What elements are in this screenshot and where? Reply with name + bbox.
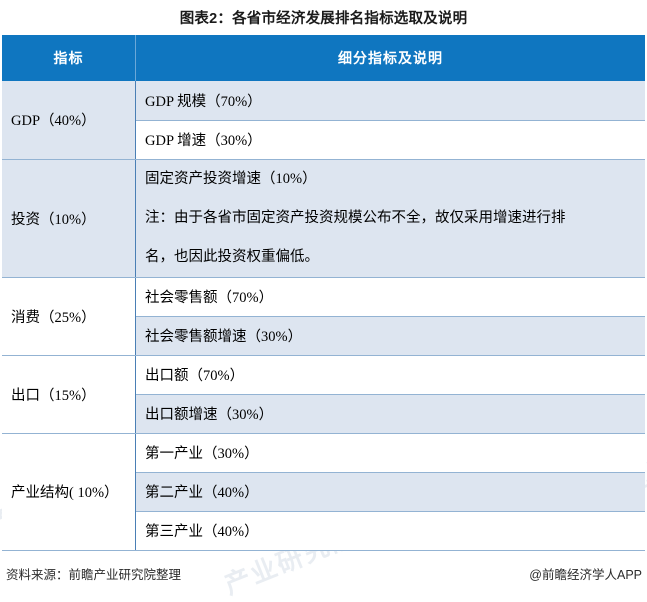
indicator-table-container: 指标 细分指标及说明 GDP（40%） GDP 规模（70%） GDP 增速（3… — [2, 35, 645, 551]
table-row: GDP（40%） GDP 规模（70%） — [2, 81, 645, 120]
brand-text: @前瞻经济学人APP — [529, 564, 642, 583]
detail-cell-export-growth: 出口额增速（30%） — [136, 394, 646, 433]
detail-cell-primary-industry: 第一产业（30%） — [136, 433, 646, 472]
table-row: 产业结构( 10%） 第一产业（30%） — [2, 433, 645, 472]
category-cell-industry-structure: 产业结构( 10%） — [2, 433, 136, 550]
footer: 资料来源：前瞻产业研究院整理 @前瞻经济学人APP — [0, 558, 647, 594]
detail-cell-gdp-scale: GDP 规模（70%） — [136, 81, 646, 120]
investment-note-line-2: 名，也因此投资权重偏低。 — [145, 238, 645, 277]
table-header: 指标 细分指标及说明 — [2, 35, 645, 81]
page-title: 图表2：各省市经济发展排名指标选取及说明 — [0, 0, 647, 29]
detail-cell-retail-total: 社会零售额（70%） — [136, 277, 646, 316]
detail-cell-gdp-growth: GDP 增速（30%） — [136, 120, 646, 159]
investment-note-line-1: 注：由于各省市固定资产投资规模公布不全，故仅采用增速进行排 — [145, 199, 645, 238]
detail-cell-secondary-industry: 第二产业（40%） — [136, 472, 646, 511]
column-header-detail: 细分指标及说明 — [136, 35, 646, 81]
investment-growth-text: 固定资产投资增速（10%） — [145, 160, 645, 199]
detail-cell-retail-growth: 社会零售额增速（30%） — [136, 316, 646, 355]
indicator-table: 指标 细分指标及说明 GDP（40%） GDP 规模（70%） GDP 增速（3… — [2, 35, 645, 551]
source-text: 资料来源：前瞻产业研究院整理 — [6, 564, 181, 583]
category-cell-gdp: GDP（40%） — [2, 81, 136, 159]
category-cell-consumption: 消费（25%） — [2, 277, 136, 355]
table-header-row: 指标 细分指标及说明 — [2, 35, 645, 81]
table-row: 投资（10%） 固定资产投资增速（10%） 注：由于各省市固定资产投资规模公布不… — [2, 159, 645, 277]
table-body: GDP（40%） GDP 规模（70%） GDP 增速（30%） 投资（10%）… — [2, 81, 645, 550]
detail-cell-export-total: 出口额（70%） — [136, 355, 646, 394]
column-header-indicator: 指标 — [2, 35, 136, 81]
detail-cell-tertiary-industry: 第三产业（40%） — [136, 511, 646, 550]
category-cell-investment: 投资（10%） — [2, 159, 136, 277]
category-cell-export: 出口（15%） — [2, 355, 136, 433]
table-row: 消费（25%） 社会零售额（70%） — [2, 277, 645, 316]
detail-cell-investment: 固定资产投资增速（10%） 注：由于各省市固定资产投资规模公布不全，故仅采用增速… — [136, 159, 646, 277]
table-row: 出口（15%） 出口额（70%） — [2, 355, 645, 394]
